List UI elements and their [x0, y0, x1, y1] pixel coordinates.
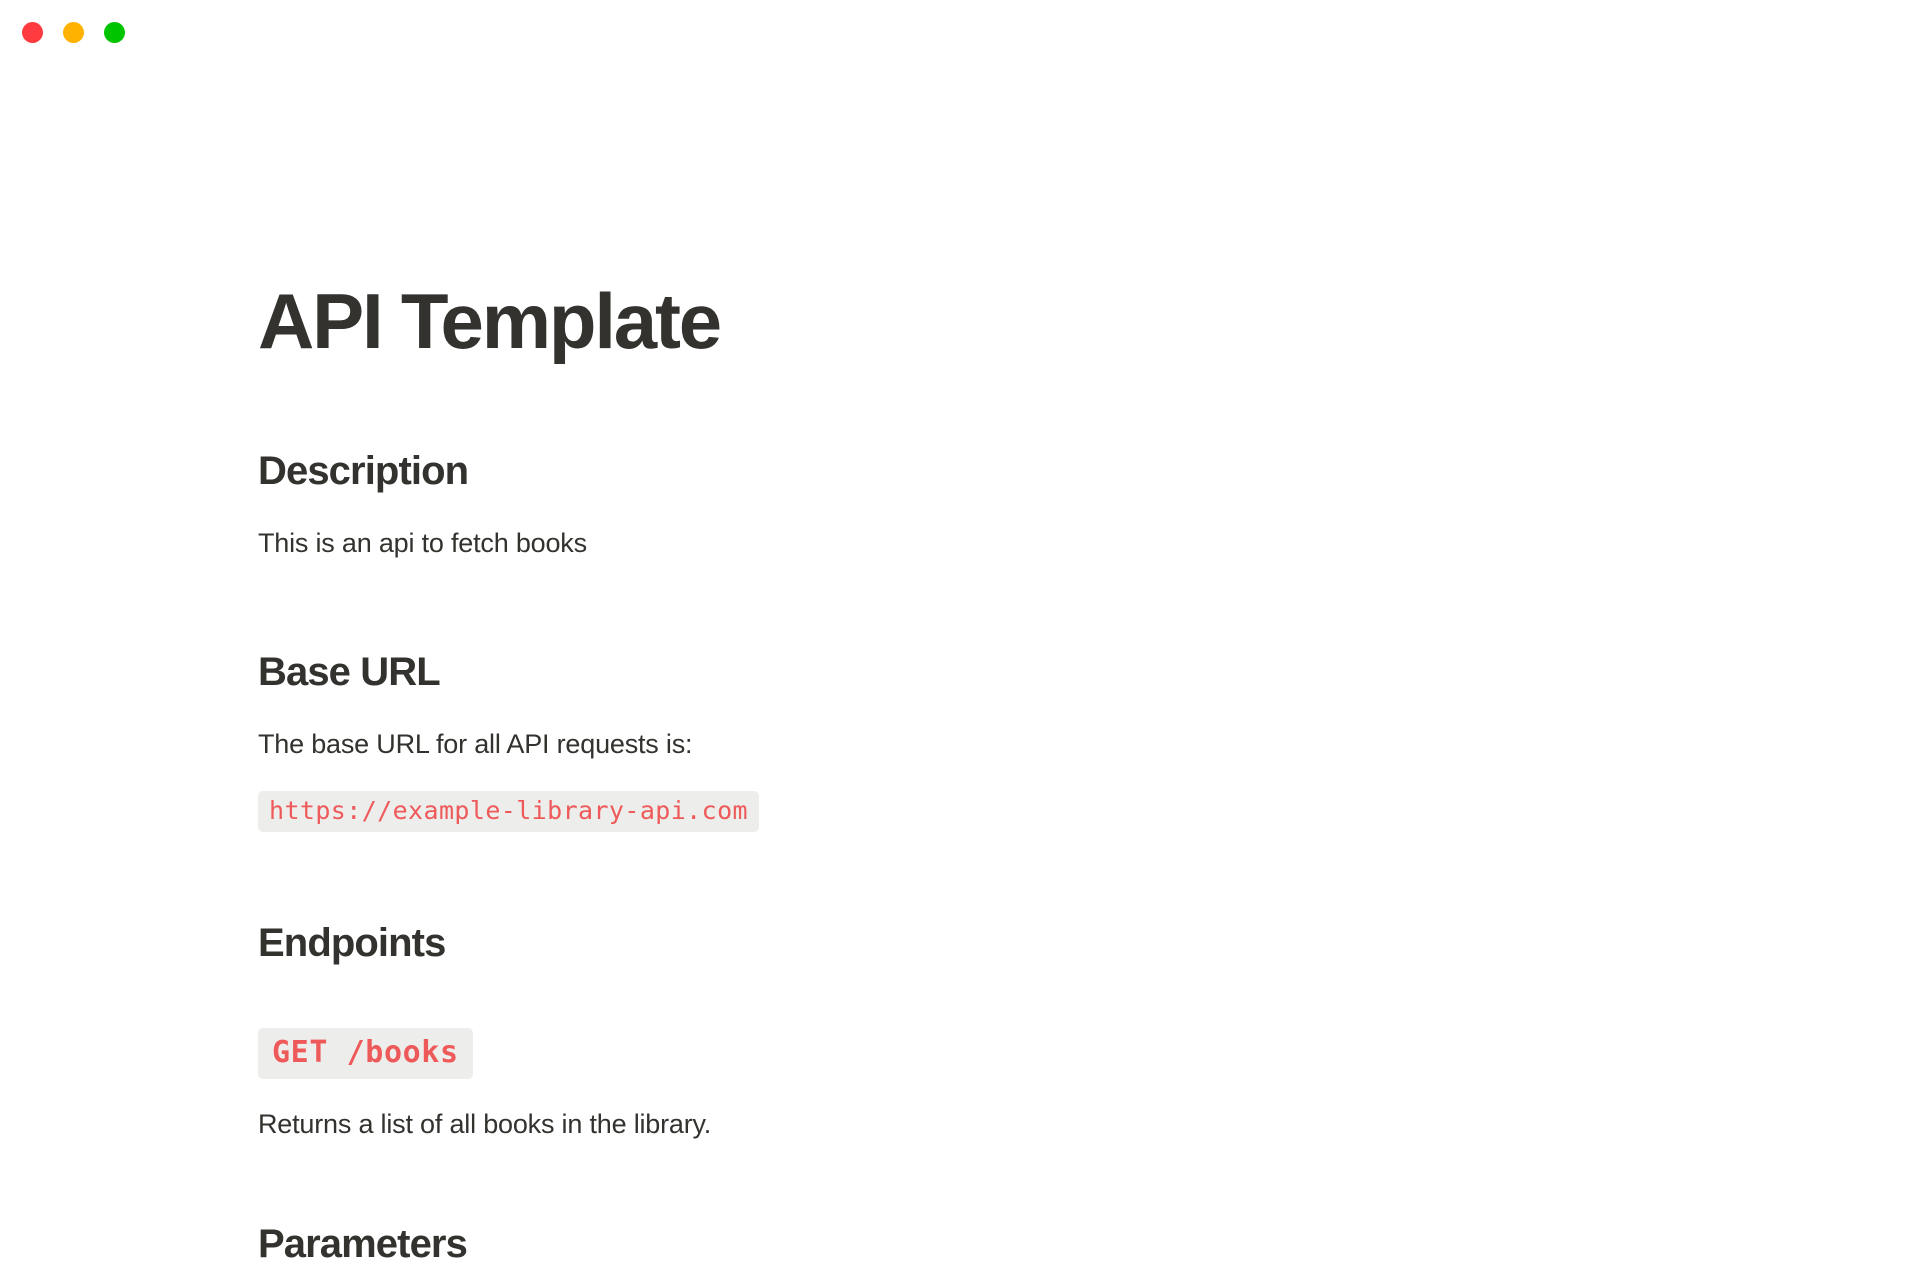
- page-title: API Template: [258, 282, 1358, 360]
- section-paragraph-description: This is an api to fetch books: [258, 525, 1358, 561]
- section-base-url: Base URL The base URL for all API reques…: [258, 649, 1358, 832]
- section-description: Description This is an api to fetch book…: [258, 448, 1358, 561]
- section-heading-description: Description: [258, 448, 1358, 494]
- section-heading-base-url: Base URL: [258, 649, 1358, 695]
- section-heading-endpoints: Endpoints: [258, 920, 1358, 966]
- endpoint-get-books-chip[interactable]: GET /books: [258, 1028, 473, 1079]
- section-endpoints: Endpoints GET /books Returns a list of a…: [258, 920, 1358, 1142]
- section-paragraph-base-url: The base URL for all API requests is:: [258, 726, 1358, 762]
- section-heading-parameters: Parameters: [258, 1221, 1358, 1267]
- base-url-code-chip[interactable]: https://example-library-api.com: [258, 791, 759, 833]
- close-window-button[interactable]: [22, 22, 43, 43]
- base-url-code-row: https://example-library-api.com: [258, 791, 1358, 833]
- minimize-window-button[interactable]: [63, 22, 84, 43]
- endpoint-code-row: GET /books: [258, 1028, 1358, 1079]
- endpoint-description-get-books: Returns a list of all books in the libra…: [258, 1106, 1358, 1142]
- section-parameters: Parameters: [258, 1221, 1358, 1267]
- traffic-light-group: [22, 22, 125, 43]
- document-body: API Template Description This is an api …: [258, 0, 1358, 1267]
- maximize-window-button[interactable]: [104, 22, 125, 43]
